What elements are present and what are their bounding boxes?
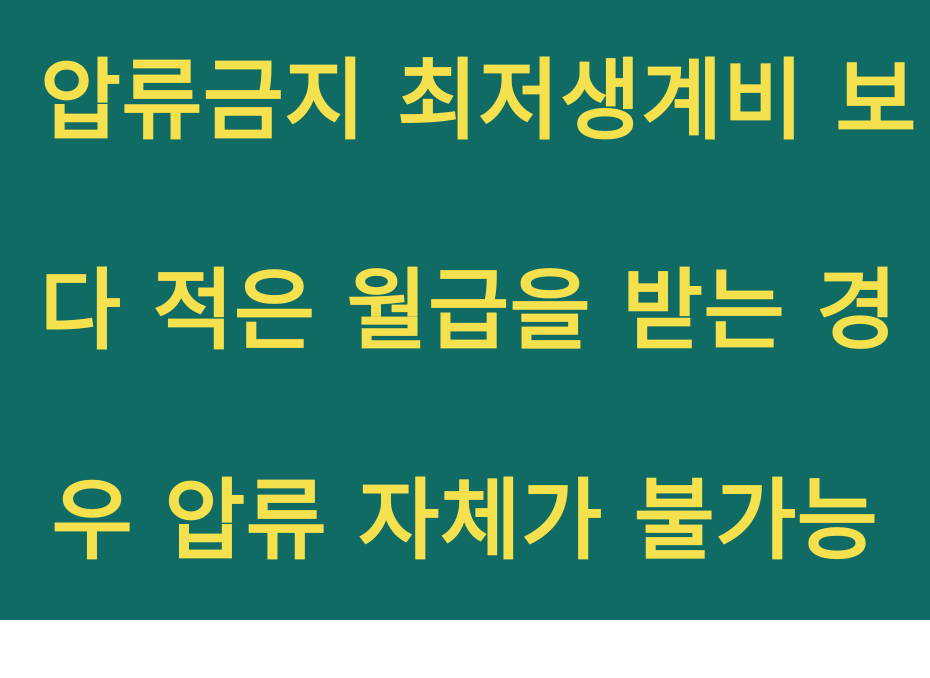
- headline-text: 압류금지 최저생계비 보 다 적은 월급을 받는 경 우 압류 자체가 불가능: [0, 0, 930, 678]
- headline-line-1: 압류금지 최저생계비 보: [40, 48, 890, 153]
- headline-line-3: 우 압류 자체가 불가능: [40, 468, 890, 573]
- headline-line-2: 다 적은 월급을 받는 경: [40, 258, 890, 363]
- thumbnail-card: 압류금지 최저생계비 보 다 적은 월급을 받는 경 우 압류 자체가 불가능: [0, 0, 930, 620]
